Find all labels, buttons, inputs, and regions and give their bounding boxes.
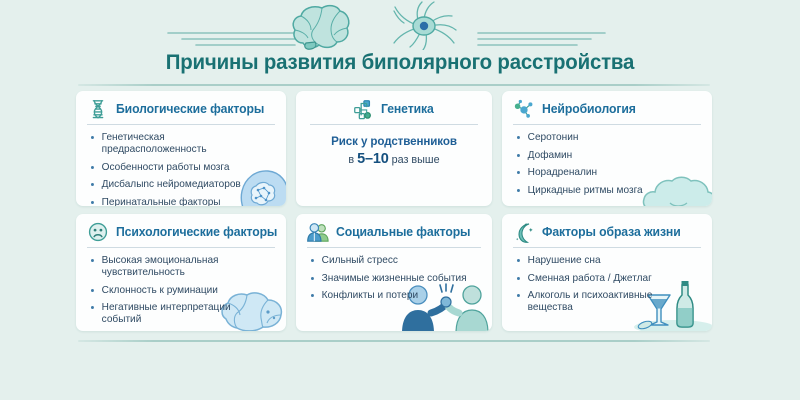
divider-top xyxy=(78,84,710,86)
card-genetics[interactable]: Генетика Риск у родственников в 5–10 раз… xyxy=(296,91,492,206)
card-title: Биологические факторы xyxy=(116,102,264,116)
list-item: Алкоголь и психоактивные вещества xyxy=(517,290,696,314)
card-social[interactable]: Социальные факторы Сильный стресс Значим… xyxy=(296,214,492,331)
card-lifestyle[interactable]: Факторы образа жизни Нарушение сна Сменн… xyxy=(502,214,712,331)
list-item: Значимые жизненные события xyxy=(311,273,477,285)
bullet-list: Сильный стресс Значимые жизненные событи… xyxy=(296,248,492,302)
list-item: Склонность к руминации xyxy=(91,285,270,297)
genetics-line-2: в 5–10 раз выше xyxy=(296,151,492,167)
card-title: Генетика xyxy=(381,102,434,116)
brain-icon xyxy=(293,6,349,50)
genetics-risk-value: 5–10 xyxy=(357,151,388,167)
bullet-list: Генетическая предрасположенность Особенн… xyxy=(76,125,286,206)
dna-icon xyxy=(87,98,109,120)
bullet-list: Высокая эмоциональная чувствительность С… xyxy=(76,248,286,331)
divider-bottom xyxy=(78,340,710,342)
genetics-body: Риск у родственников в 5–10 раз выше xyxy=(296,125,492,167)
card-biological[interactable]: Биологические факторы Генетическая предр… xyxy=(76,91,286,206)
card-title: Факторы образа жизни xyxy=(542,225,681,239)
header-artwork xyxy=(0,0,800,50)
list-item: Дофамин xyxy=(517,150,696,162)
list-item: Норадреналин xyxy=(517,167,696,179)
page-title: Причины развития биполярного расстройств… xyxy=(20,50,780,75)
list-item: Перинатальные факторы xyxy=(91,197,270,207)
bullet-list: Серотонин Дофамин Норадреналин Циркадные… xyxy=(502,125,712,197)
cards-row-bottom: Психологические факторы Высокая эмоциона… xyxy=(76,214,712,331)
list-item: Циркадные ритмы мозга xyxy=(517,185,696,197)
card-title: Психологические факторы xyxy=(116,225,277,239)
sad-face-icon xyxy=(87,221,109,243)
card-header: Психологические факторы xyxy=(76,214,286,247)
card-header: Генетика xyxy=(296,91,492,124)
card-title: Нейробиология xyxy=(542,102,636,116)
bullet-list: Нарушение сна Сменная работа / Джетлаг А… xyxy=(502,248,712,314)
neuron-icon xyxy=(394,2,456,50)
list-item: Негативные интерпретации событий xyxy=(91,302,270,326)
decorative-lines-right xyxy=(478,33,605,45)
molecule-icon xyxy=(513,98,535,120)
list-item: Конфликты и потери xyxy=(311,290,477,302)
genetics-prefix: в xyxy=(348,154,357,166)
card-header: Биологические факторы xyxy=(76,91,286,124)
genetics-line-1: Риск у родственников xyxy=(296,135,492,148)
cards-row-top: Биологические факторы Генетическая предр… xyxy=(76,91,712,206)
list-item: Дисбалыnс нейромедиаторов xyxy=(91,179,270,191)
card-header: Социальные факторы xyxy=(296,214,492,247)
list-item: Сильный стресс xyxy=(311,255,477,267)
list-item: Особенности работы мозга xyxy=(91,162,270,174)
list-item: Серотонин xyxy=(517,132,696,144)
crescent-moon-icon xyxy=(513,221,535,243)
card-psychological[interactable]: Психологические факторы Высокая эмоциона… xyxy=(76,214,286,331)
infographic-page: Причины развития биполярного расстройств… xyxy=(0,0,800,400)
list-item: Высокая эмоциональная чувствительность xyxy=(91,255,270,279)
two-people-icon xyxy=(307,221,329,243)
list-item: Сменная работа / Джетлаг xyxy=(517,273,696,285)
card-neurobiology[interactable]: Нейробиология Серотонин Дофамин Норадрен… xyxy=(502,91,712,206)
list-item: Нарушение сна xyxy=(517,255,696,267)
card-title: Социальные факторы xyxy=(336,225,470,239)
cards-grid: Биологические факторы Генетическая предр… xyxy=(76,91,712,331)
genetics-suffix: раз выше xyxy=(389,154,440,166)
card-header: Факторы образа жизни xyxy=(502,214,712,247)
card-header: Нейробиология xyxy=(502,91,712,124)
family-tree-icon xyxy=(352,98,374,120)
decorative-lines-left xyxy=(168,33,295,45)
list-item: Генетическая предрасположенность xyxy=(91,132,270,156)
